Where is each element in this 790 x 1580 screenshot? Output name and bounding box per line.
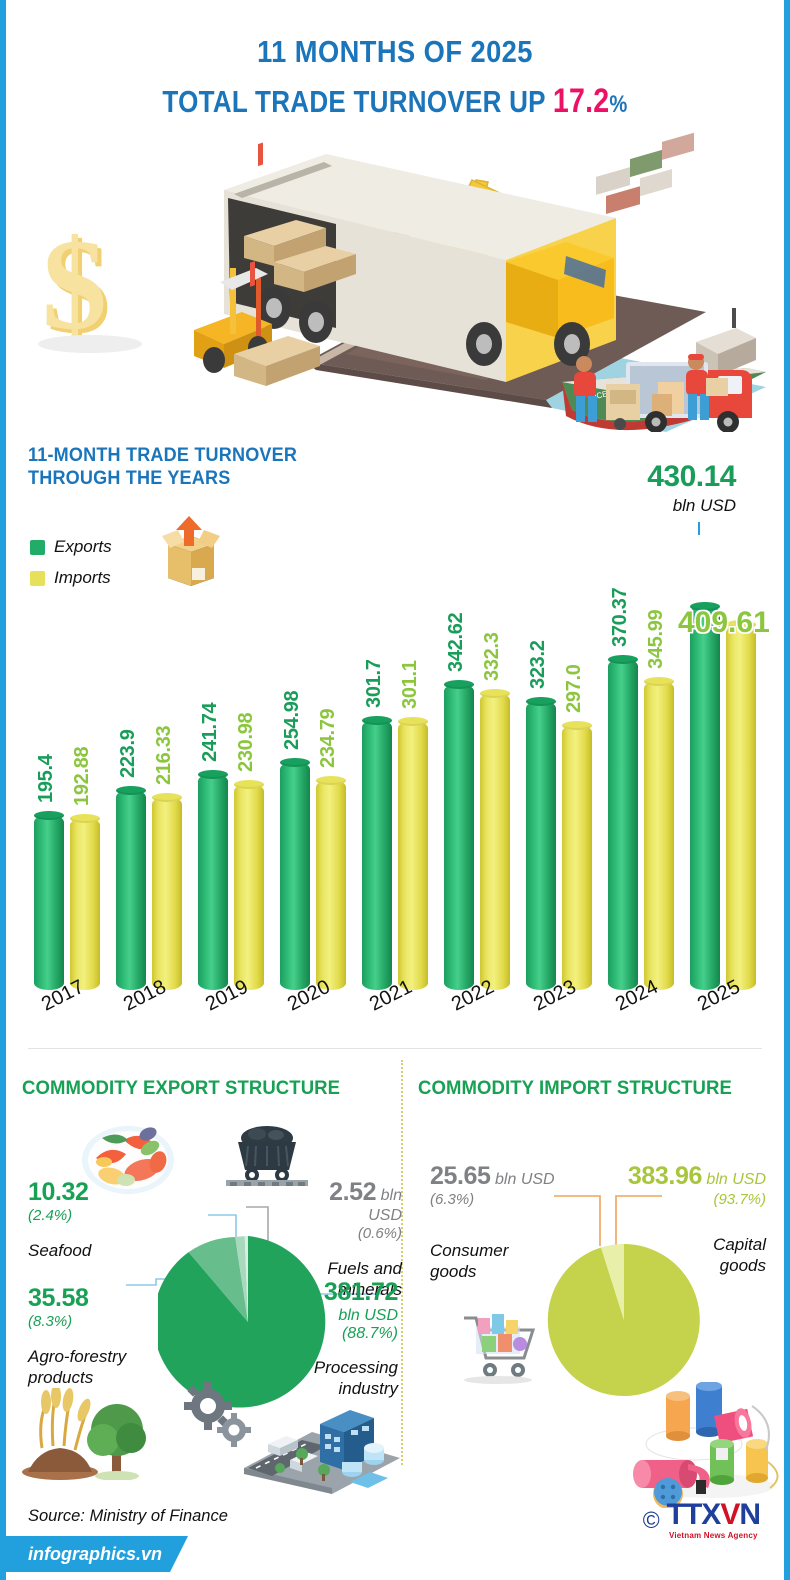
export-fuels-name-line1: Fuels and [302,1258,402,1279]
bar-exports-2023 [526,701,556,990]
bar-label-exports-2017: 195.4 [35,754,58,803]
bar-label-imports-2021: 301.1 [399,660,422,709]
bar-imports-2023 [562,725,592,990]
legend-swatch-exports [30,540,45,555]
bar-label-exports-2022: 342.62 [445,613,468,672]
source-note: Source: Ministry of Finance [28,1507,228,1526]
export-item-seafood: 10.32 (2.4%) Seafood [28,1178,91,1261]
callout-tick-mark [698,522,700,535]
bar-imports-2022 [480,693,510,990]
section-divider [28,1048,762,1049]
export-seafood-name: Seafood [28,1240,91,1261]
import-capital-value: 383.96 [628,1162,702,1190]
bar-cap [526,697,556,706]
page-title-line2: TOTAL TRADE TURNOVER UP 17.2% [68,82,722,121]
export-fuels-percent: (0.6%) [302,1225,402,1242]
hero-illustration: OCEANIC LINES [6,132,790,432]
bar-label-exports-2020: 254.98 [281,691,304,750]
factory-icon [174,1372,404,1494]
agency-subtitle: Vietnam News Agency [667,1532,760,1540]
bar-exports-2021 [362,720,392,990]
bar-label-imports-2024: 345.99 [645,610,668,669]
export-seafood-value: 10.32 [28,1178,89,1206]
header: 11 MONTHS OF 2025 TOTAL TRADE TURNOVER U… [6,34,784,121]
shopping-cart-icon [446,1300,542,1386]
bar-exports-2017 [34,815,64,990]
import-structure-title: COMMODITY IMPORT STRUCTURE [418,1077,732,1100]
export-agro-value: 35.58 [28,1284,89,1312]
total-turnover-callout: 430.14 bln USD [647,460,736,516]
bar-cap [444,680,474,689]
bar-exports-2024 [608,659,638,990]
bar-exports-2018 [116,790,146,990]
export-processing-unit: bln USD (88.7%) [286,1307,398,1343]
bar-cap [280,758,310,767]
bar-imports-2020 [316,780,346,990]
copyright-icon: © [643,1507,660,1534]
bar-cap [398,717,428,726]
site-url-tab[interactable]: infographics.vn [6,1536,188,1572]
bar-cap [70,814,100,823]
bar-label-imports-2017: 192.88 [71,747,94,806]
bar-cap [608,655,638,664]
port-scene-svg: OCEANIC LINES [6,132,790,432]
bar-cap [316,776,346,785]
import-pie-chart [544,1240,704,1400]
export-fuels-value: 2.52 [329,1178,376,1206]
bar-label-exports-2024: 370.37 [609,588,632,647]
bar-exports-2022 [444,684,474,990]
bar-exports-2019 [198,774,228,990]
chart-section-title: 11-MONTH TRADE TURNOVER THROUGH THE YEAR… [28,444,297,490]
bar-cap [480,689,510,698]
bar-cap [562,721,592,730]
bar-cap [34,811,64,820]
bar-imports-2019 [234,784,264,990]
total-turnover-value: 430.14 [647,460,736,494]
export-agro-percent: (8.3%) [28,1313,126,1330]
bar-label-exports-2023: 323.2 [527,640,550,689]
legend-item-exports: Exports [30,537,112,557]
bar-cap [198,770,228,779]
export-structure-title: COMMODITY EXPORT STRUCTURE [22,1077,340,1100]
bar-imports-2025 [726,624,756,990]
bar-label-imports-2018: 216.33 [153,726,176,785]
bar-cap [234,780,264,789]
bar-imports-2018 [152,797,182,990]
export-processing-value: 381.72 [324,1278,398,1306]
page-title-line1: 11 MONTHS OF 2025 [53,34,738,70]
chart-title-line2: THROUGH THE YEARS [28,467,297,490]
legend-label-exports: Exports [54,537,112,557]
agro-forestry-icon [20,1388,150,1480]
page-title-line2-text: TOTAL TRADE TURNOVER UP [162,84,552,119]
agency-logo: © TTXVN Vietnam News Agency [643,1500,760,1540]
bar-imports-2017 [70,818,100,990]
bar-label-exports-2021: 301.7 [363,659,386,708]
agency-name: TTXVN [667,1498,760,1531]
trade-turnover-bar-chart: 195.4192.88223.9216.33241.74230.98254.98… [6,560,790,990]
bar-label-exports-2019: 241.74 [199,703,222,762]
bar-imports-2021 [398,721,428,990]
export-agro-name-line1: Agro-forestry [28,1346,126,1367]
total-turnover-unit: bln USD [647,496,736,516]
chart-title-line1: 11-MONTH TRADE TURNOVER [28,444,297,467]
export-item-agro: 35.58 (8.3%) Agro-forestry products [28,1284,126,1388]
bar-exports-2020 [280,762,310,990]
percent-sign: % [609,91,627,118]
percent-value: 17.2 [553,82,610,120]
bar-label-imports-2020: 234.79 [317,709,340,768]
bar-imports-2024 [644,681,674,990]
bar-cap [362,716,392,725]
chart-x-axis: 201720182019202020212022202320242025 [6,992,790,1040]
bar-label-imports-2025: 409.61 [678,606,770,640]
bar-label-exports-2018: 223.9 [117,729,140,778]
bar-cap [116,786,146,795]
import-consumer-value: 25.65 [430,1162,491,1190]
bar-label-imports-2019: 230.98 [235,713,258,772]
thread-spools-icon [620,1382,788,1508]
export-agro-name-line2: products [28,1367,126,1388]
bar-cap [152,793,182,802]
bar-exports-2025 [690,606,720,990]
bar-cap [644,677,674,686]
infographic-page: 11 MONTHS OF 2025 TOTAL TRADE TURNOVER U… [0,0,790,1580]
import-capital-unit: bln USD [706,1171,766,1188]
bar-label-imports-2023: 297.0 [563,664,586,713]
export-seafood-percent: (2.4%) [28,1207,91,1224]
bar-label-imports-2022: 332.3 [481,632,504,681]
